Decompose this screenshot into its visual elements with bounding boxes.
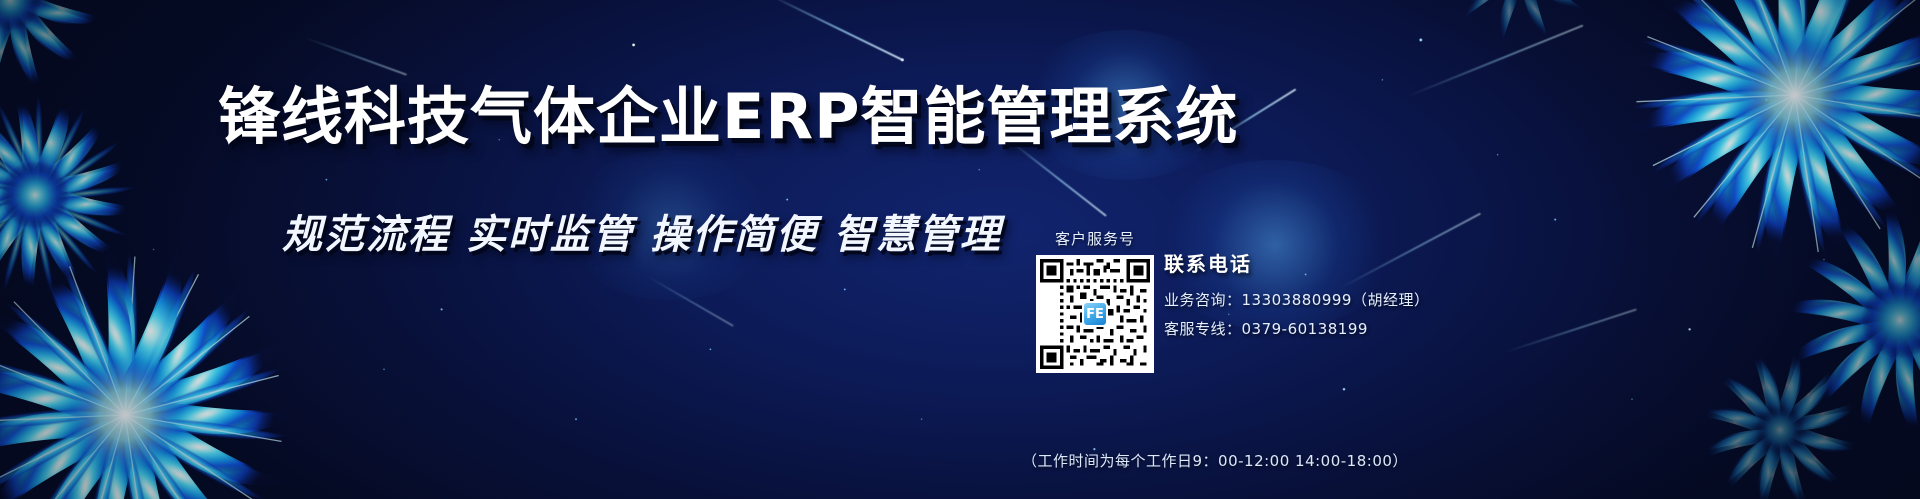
light-streak-icon <box>1407 24 1584 97</box>
banner-subheadline: 规范流程 实时监管 操作简便 智慧管理 <box>282 215 1002 255</box>
qr-column: 客户服务号 <box>1036 228 1154 373</box>
light-streak-icon <box>1503 308 1637 353</box>
contact-phone-title: 联系电话 <box>1164 248 1429 277</box>
flower-top-left-icon <box>0 0 130 120</box>
customer-service-qr-code[interactable]: FE <box>1036 255 1154 373</box>
flower-top-right-icon <box>1630 0 1920 260</box>
light-streak-icon <box>646 275 734 327</box>
erp-promo-banner: 锋线科技气体企业ERP智能管理系统 规范流程 实时监管 操作简便 智慧管理 客户… <box>0 0 1920 499</box>
qr-caption-label: 客户服务号 <box>1036 228 1154 249</box>
flower-right-lower-icon <box>1680 330 1880 499</box>
business-hours-note: （工作时间为每个工作日9：00-12:00 14:00-18:00） <box>1022 450 1408 471</box>
flower-bottom-left-icon <box>0 250 290 499</box>
qr-center-logo-icon: FE <box>1082 301 1108 327</box>
flower-left-middle-icon <box>0 80 150 310</box>
light-streak-icon <box>303 36 407 76</box>
flower-right-middle-icon <box>1770 190 1920 450</box>
service-hotline-line: 客服专线：0379-60138199 <box>1164 318 1429 339</box>
banner-headline: 锋线科技气体企业ERP智能管理系统 <box>218 86 1239 148</box>
light-streak-icon <box>767 0 903 61</box>
sales-phone-line: 业务咨询：13303880999（胡经理） <box>1164 289 1429 310</box>
flower-top-middle-icon <box>1420 0 1620 70</box>
phone-column: 联系电话 业务咨询：13303880999（胡经理） 客服专线：0379-601… <box>1164 248 1429 347</box>
